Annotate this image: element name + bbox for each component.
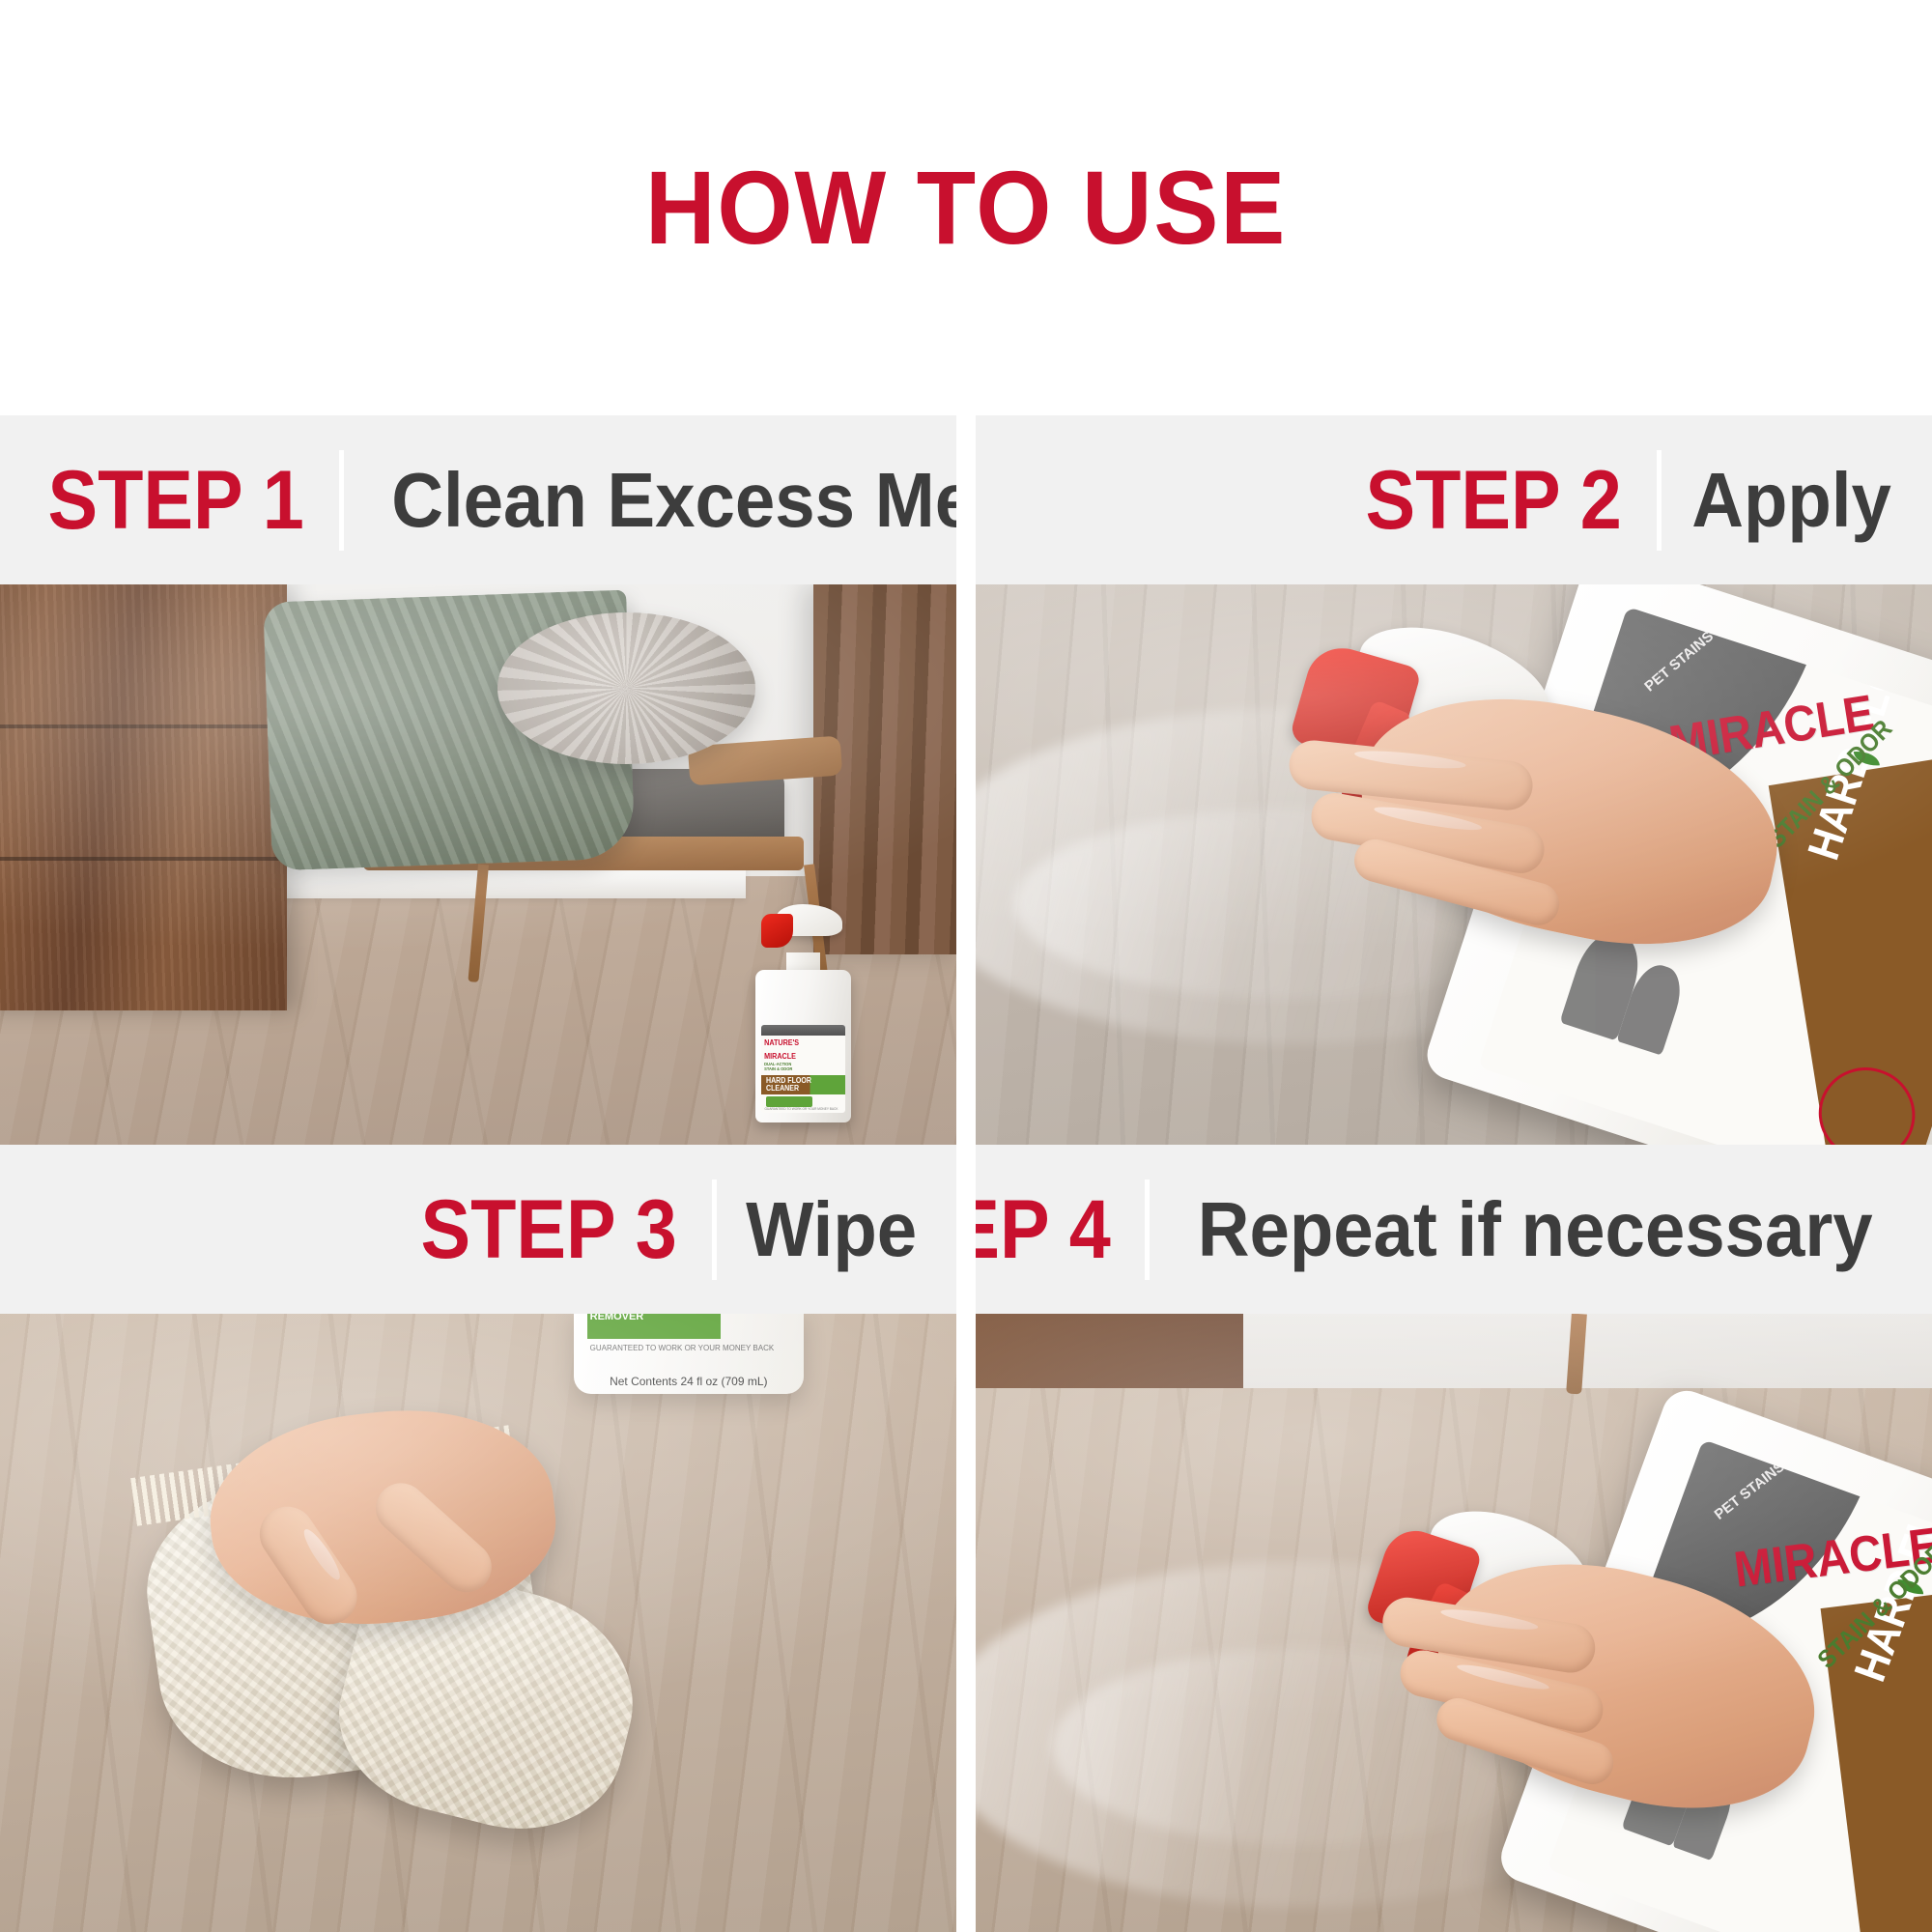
infographic-page: HOW TO USE STEP 1 Clean Excess Mess STEP… bbox=[0, 0, 1932, 1932]
step-4-label: Repeat if necessary bbox=[1183, 1191, 1873, 1268]
grid-gutter-bottom bbox=[956, 1145, 976, 1314]
step-3-label: Wipe bbox=[731, 1191, 917, 1268]
fingernail-3 bbox=[1439, 1605, 1539, 1634]
bottle-body: NATURE'S MIRACLE DUAL-ACTION STAIN & ODO… bbox=[755, 970, 851, 1122]
wood-grain bbox=[0, 584, 287, 1010]
step-4-number: STEP 4 bbox=[976, 1188, 1122, 1271]
benefits-heading: REMOVER bbox=[590, 1314, 644, 1323]
step-1-label: Clean Excess Mess bbox=[377, 462, 956, 539]
step-1-header: STEP 1 Clean Excess Mess bbox=[0, 415, 956, 584]
step-1-number: STEP 1 bbox=[47, 459, 316, 542]
grid-gutter-mid bbox=[956, 584, 976, 1145]
label-product-2: CLEANER bbox=[766, 1085, 836, 1093]
step-3-header: STEP 3 Wipe bbox=[0, 1145, 956, 1314]
label-benefits-block bbox=[766, 1096, 812, 1106]
label-brand: NATURE'S bbox=[761, 1036, 837, 1049]
spray-bottle-standing: NATURE'S MIRACLE DUAL-ACTION STAIN & ODO… bbox=[755, 898, 851, 1122]
label-brand-2: MIRACLE bbox=[761, 1049, 837, 1063]
label-subtitle-2: STAIN & ODOR bbox=[761, 1067, 837, 1072]
thumb-wipe bbox=[365, 1473, 501, 1603]
page-title: HOW TO USE bbox=[645, 156, 1287, 260]
label-product-band: HARD FLOOR CLEANER bbox=[761, 1075, 845, 1094]
step-4-header: STEP 4 Repeat if necessary bbox=[976, 1145, 1932, 1314]
steps-grid: STEP 1 Clean Excess Mess STEP 2 Apply bbox=[0, 415, 1932, 1932]
grid-gutter-bottom-2 bbox=[956, 1314, 976, 1932]
label-tagline-arc bbox=[761, 1025, 845, 1036]
dresser-partial bbox=[976, 1314, 1243, 1388]
step-4-photo: PET STAINS & ODORS HARD FLOOR MIRACLE ST… bbox=[976, 1314, 1932, 1932]
step-2-label: Apply bbox=[1677, 462, 1891, 539]
bottle-base-partial: REMOVER GUARANTEED TO WORK OR YOUR MONEY… bbox=[574, 1314, 804, 1394]
guarantee-text: GUARANTEED TO WORK OR YOUR MONEY BACK bbox=[590, 1344, 787, 1354]
step-3-photo: REMOVER GUARANTEED TO WORK OR YOUR MONEY… bbox=[0, 1314, 956, 1932]
step-2-header: STEP 2 Apply bbox=[976, 415, 1932, 584]
fingernail bbox=[1353, 747, 1466, 771]
grid-gutter-top bbox=[956, 415, 976, 584]
bottle-trigger bbox=[761, 896, 845, 957]
step-1-divider bbox=[339, 450, 344, 551]
fingernail-wipe bbox=[298, 1526, 344, 1584]
step-4-divider bbox=[1145, 1179, 1150, 1280]
title-zone: HOW TO USE bbox=[0, 0, 1932, 415]
round-velvet-pillow bbox=[497, 612, 755, 764]
step-2-number: STEP 2 bbox=[1365, 459, 1634, 542]
bottle-label: NATURE'S MIRACLE DUAL-ACTION STAIN & ODO… bbox=[761, 1025, 845, 1113]
trigger-lever-icon bbox=[761, 914, 793, 948]
step-2-divider bbox=[1657, 450, 1662, 551]
fingernail-2 bbox=[1374, 802, 1483, 833]
step-3-divider bbox=[712, 1179, 717, 1280]
label-guarantee: GUARANTEED TO WORK OR YOUR MONEY BACK bbox=[761, 1107, 845, 1114]
step-2-photo: PET STAINS & ODORS HARD FLOOR MIRACLE ST… bbox=[976, 584, 1932, 1145]
net-contents-text: Net Contents 24 fl oz (709 mL) bbox=[610, 1375, 767, 1388]
step-1-photo: NATURE'S MIRACLE DUAL-ACTION STAIN & ODO… bbox=[0, 584, 956, 1145]
wooden-dresser bbox=[0, 584, 287, 1010]
step-3-number: STEP 3 bbox=[420, 1188, 689, 1271]
